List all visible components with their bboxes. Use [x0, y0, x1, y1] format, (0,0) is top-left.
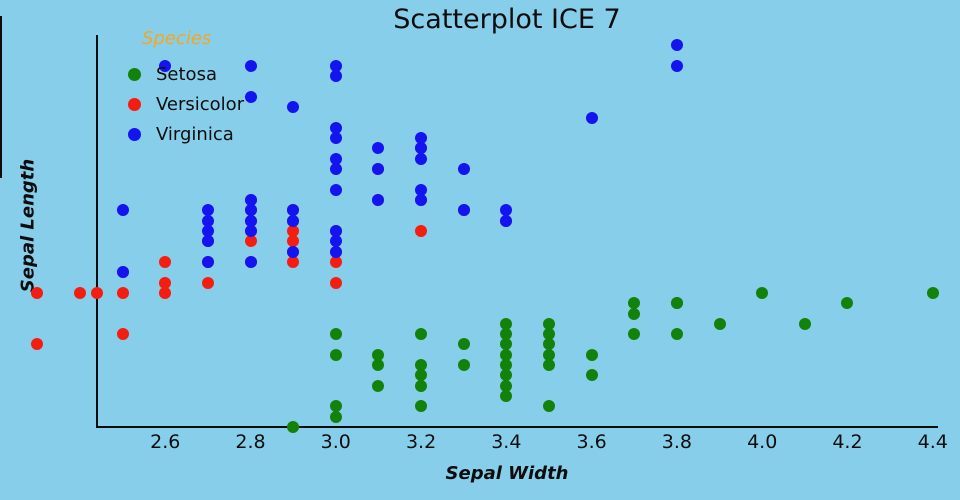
data-point-versicolor[interactable]	[330, 277, 342, 289]
x-tick-4.4	[0, 97, 2, 108]
x-tick-4.0	[0, 79, 2, 88]
legend-label-setosa: Setosa	[156, 64, 217, 85]
data-point-setosa[interactable]	[628, 297, 640, 309]
data-point-virginica[interactable]	[330, 246, 342, 258]
x-minor-tick	[0, 164, 2, 171]
data-point-virginica[interactable]	[415, 153, 427, 165]
data-point-setosa[interactable]	[543, 400, 555, 412]
x-minor-tick	[0, 136, 2, 143]
data-point-virginica[interactable]	[372, 163, 384, 175]
data-point-virginica[interactable]	[458, 163, 470, 175]
legend-swatch-virginica	[128, 128, 141, 141]
data-point-setosa[interactable]	[330, 328, 342, 340]
data-point-setosa[interactable]	[330, 411, 342, 423]
x-tick-3.2	[0, 43, 2, 52]
data-point-versicolor[interactable]	[117, 287, 129, 299]
x-minor-tick	[0, 150, 2, 157]
x-minor-tick	[0, 108, 2, 115]
data-point-setosa[interactable]	[543, 328, 555, 340]
data-point-versicolor[interactable]	[159, 256, 171, 268]
data-point-setosa[interactable]	[500, 349, 512, 361]
data-point-setosa[interactable]	[671, 297, 683, 309]
data-point-virginica[interactable]	[330, 184, 342, 196]
data-point-virginica[interactable]	[117, 204, 129, 216]
data-point-setosa[interactable]	[415, 328, 427, 340]
x-tick-label-3.2: 3.2	[391, 431, 451, 453]
data-point-versicolor[interactable]	[287, 256, 299, 268]
data-point-virginica[interactable]	[117, 266, 129, 278]
data-point-setosa[interactable]	[586, 349, 598, 361]
data-point-versicolor[interactable]	[159, 277, 171, 289]
x-tick-label-3.8: 3.8	[647, 431, 707, 453]
x-tick-3.6	[0, 61, 2, 70]
data-point-virginica[interactable]	[287, 246, 299, 258]
data-point-virginica[interactable]	[671, 39, 683, 51]
data-point-versicolor[interactable]	[91, 287, 103, 299]
legend-label-virginica: Virginica	[156, 124, 234, 145]
legend: Species Setosa Versicolor Virginica	[128, 28, 308, 151]
data-point-setosa[interactable]	[543, 359, 555, 371]
data-point-setosa[interactable]	[415, 380, 427, 392]
data-point-virginica[interactable]	[202, 235, 214, 247]
x-axis-label: Sepal Width	[27, 463, 960, 484]
legend-label-versicolor: Versicolor	[156, 94, 244, 115]
data-point-virginica[interactable]	[202, 215, 214, 227]
data-point-virginica[interactable]	[330, 132, 342, 144]
data-point-setosa[interactable]	[799, 318, 811, 330]
x-tick-2.8	[0, 25, 2, 34]
x-minor-tick	[0, 171, 2, 178]
data-point-setosa[interactable]	[330, 349, 342, 361]
data-point-versicolor[interactable]	[117, 328, 129, 340]
data-point-setosa[interactable]	[628, 328, 640, 340]
data-point-setosa[interactable]	[458, 359, 470, 371]
x-tick-label-4.2: 4.2	[817, 431, 877, 453]
data-point-setosa[interactable]	[500, 318, 512, 330]
data-point-versicolor[interactable]	[245, 235, 257, 247]
data-point-versicolor[interactable]	[159, 287, 171, 299]
legend-swatch-versicolor	[128, 98, 141, 111]
data-point-setosa[interactable]	[415, 359, 427, 371]
data-point-versicolor[interactable]	[31, 287, 43, 299]
scatterplot-chart: Scatterplot ICE 7 2.62.83.03.23.43.63.84…	[0, 0, 960, 500]
x-minor-tick	[0, 143, 2, 150]
data-point-setosa[interactable]	[458, 338, 470, 350]
data-point-versicolor[interactable]	[31, 338, 43, 350]
x-tick-label-4.0: 4.0	[732, 431, 792, 453]
data-point-virginica[interactable]	[245, 225, 257, 237]
data-point-virginica[interactable]	[415, 194, 427, 206]
data-point-virginica[interactable]	[287, 215, 299, 227]
x-minor-tick	[0, 122, 2, 129]
data-point-versicolor[interactable]	[74, 287, 86, 299]
data-point-setosa[interactable]	[500, 338, 512, 350]
x-tick-4.2	[0, 88, 2, 97]
x-tick-3.0	[0, 34, 2, 43]
legend-title: Species	[128, 28, 308, 49]
data-point-virginica[interactable]	[372, 142, 384, 154]
data-point-setosa[interactable]	[841, 297, 853, 309]
x-tick-label-4.4: 4.4	[903, 431, 960, 453]
data-point-setosa[interactable]	[372, 359, 384, 371]
x-tick-label-3.6: 3.6	[562, 431, 622, 453]
data-point-setosa[interactable]	[586, 369, 598, 381]
data-point-setosa[interactable]	[500, 390, 512, 402]
x-minor-tick	[0, 115, 2, 122]
data-point-virginica[interactable]	[458, 204, 470, 216]
x-tick-3.4	[0, 52, 2, 61]
data-point-virginica[interactable]	[586, 112, 598, 124]
data-point-virginica[interactable]	[245, 204, 257, 216]
data-point-setosa[interactable]	[372, 380, 384, 392]
data-point-versicolor[interactable]	[415, 225, 427, 237]
data-point-virginica[interactable]	[330, 70, 342, 82]
data-point-setosa[interactable]	[628, 308, 640, 320]
legend-swatch-setosa	[128, 68, 141, 81]
data-point-versicolor[interactable]	[330, 256, 342, 268]
x-tick-3.8	[0, 70, 2, 79]
data-point-virginica[interactable]	[372, 194, 384, 206]
x-tick-label-2.6: 2.6	[135, 431, 195, 453]
x-minor-tick	[0, 129, 2, 136]
legend-item-versicolor[interactable]: Versicolor	[128, 91, 308, 118]
data-point-setosa[interactable]	[500, 369, 512, 381]
x-tick-2.6	[0, 16, 2, 25]
data-point-setosa[interactable]	[415, 400, 427, 412]
x-tick-label-3.0: 3.0	[306, 431, 366, 453]
data-point-virginica[interactable]	[330, 163, 342, 175]
data-point-virginica[interactable]	[671, 60, 683, 72]
data-point-setosa[interactable]	[756, 287, 768, 299]
x-tick-label-2.8: 2.8	[221, 431, 281, 453]
data-point-setosa[interactable]	[287, 421, 299, 433]
data-point-versicolor[interactable]	[202, 277, 214, 289]
x-minor-tick	[0, 157, 2, 164]
data-point-setosa[interactable]	[671, 328, 683, 340]
data-point-setosa[interactable]	[543, 318, 555, 330]
data-point-virginica[interactable]	[202, 256, 214, 268]
data-point-virginica[interactable]	[500, 215, 512, 227]
legend-item-setosa[interactable]: Setosa	[128, 61, 308, 88]
data-point-virginica[interactable]	[245, 256, 257, 268]
x-tick-label-3.4: 3.4	[476, 431, 536, 453]
y-axis-label: Sepal Length	[18, 106, 39, 346]
data-point-setosa[interactable]	[714, 318, 726, 330]
legend-item-virginica[interactable]: Virginica	[128, 121, 308, 148]
data-point-setosa[interactable]	[927, 287, 939, 299]
